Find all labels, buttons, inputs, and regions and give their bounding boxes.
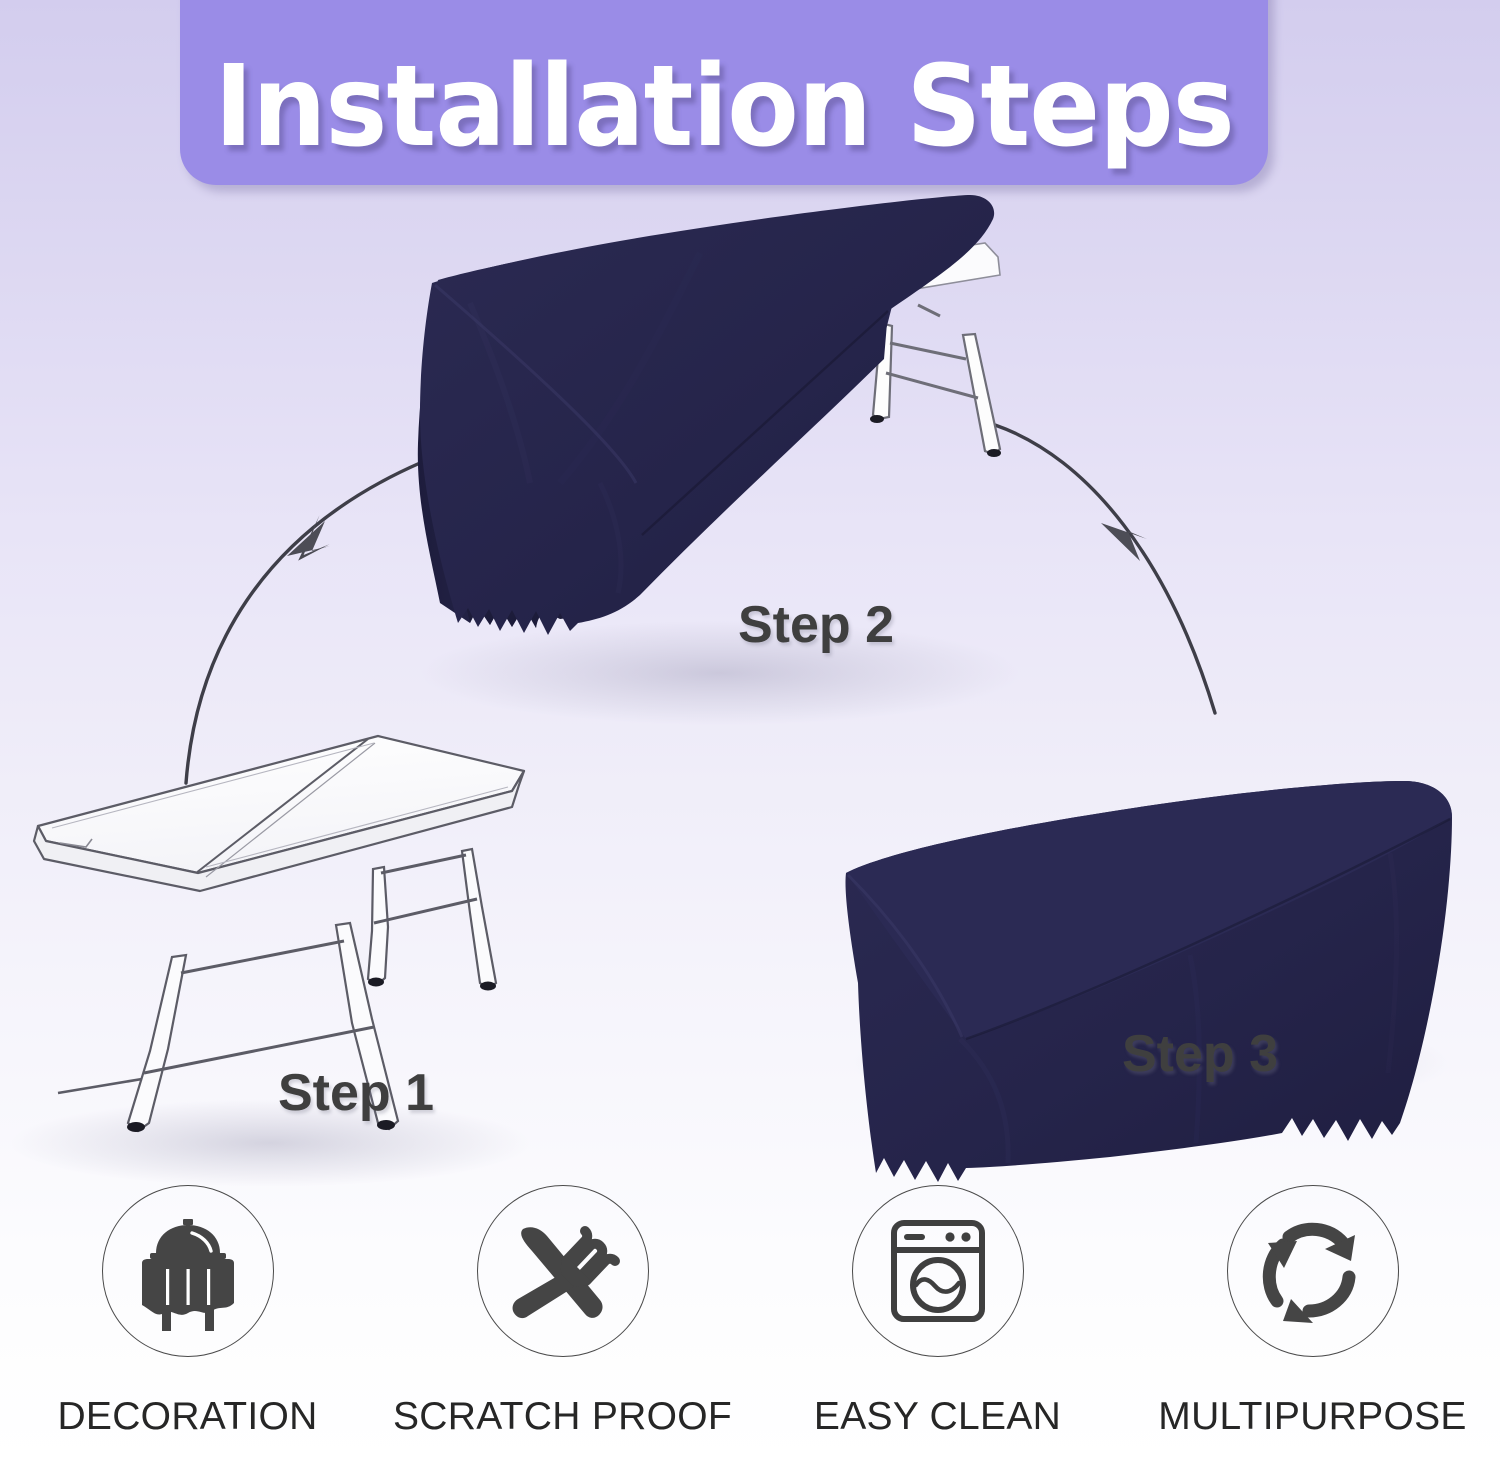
- step-3-label: Step 3: [1122, 1024, 1278, 1084]
- step1-shadow: [10, 1099, 530, 1187]
- feature-decoration-label: DECORATION: [57, 1395, 317, 1439]
- feature-easy-clean-circle: [852, 1185, 1024, 1357]
- header-banner: Installation Steps: [180, 0, 1268, 185]
- feature-easy-clean-label: EASY CLEAN: [814, 1395, 1061, 1439]
- step2-shadow: [420, 621, 1020, 725]
- step2-cover-silhouette: [420, 195, 994, 635]
- feature-row: DECORATION SCRATCH P: [0, 1185, 1500, 1464]
- feature-decoration: DECORATION: [0, 1185, 375, 1464]
- feature-scratch-proof: SCRATCH PROOF: [375, 1185, 750, 1464]
- step3-illustration: [846, 781, 1453, 1182]
- washing-machine-icon: [880, 1213, 996, 1329]
- feature-multipurpose-label: MULTIPURPOSE: [1158, 1395, 1466, 1439]
- recycle-arrows-icon: [1255, 1213, 1371, 1329]
- step-1-label: Step 1: [278, 1063, 434, 1123]
- step2-illustration: [418, 195, 1001, 635]
- feature-scratch-proof-circle: [477, 1185, 649, 1357]
- feature-easy-clean: EASY CLEAN: [750, 1185, 1125, 1464]
- knife-fork-icon: [504, 1212, 622, 1330]
- feature-decoration-circle: [102, 1185, 274, 1357]
- feature-multipurpose-circle: [1227, 1185, 1399, 1357]
- feature-multipurpose: MULTIPURPOSE: [1125, 1185, 1500, 1464]
- feature-scratch-proof-label: SCRATCH PROOF: [393, 1395, 732, 1439]
- step-2-label: Step 2: [738, 595, 894, 655]
- arrow-step1-to-step2: [186, 463, 420, 783]
- arrow-step2-to-step3: [995, 425, 1215, 713]
- page-title: Installation Steps: [214, 51, 1233, 163]
- tablecloth-cloche-icon: [128, 1211, 248, 1331]
- installation-steps-poster: Installation Steps: [0, 0, 1500, 1464]
